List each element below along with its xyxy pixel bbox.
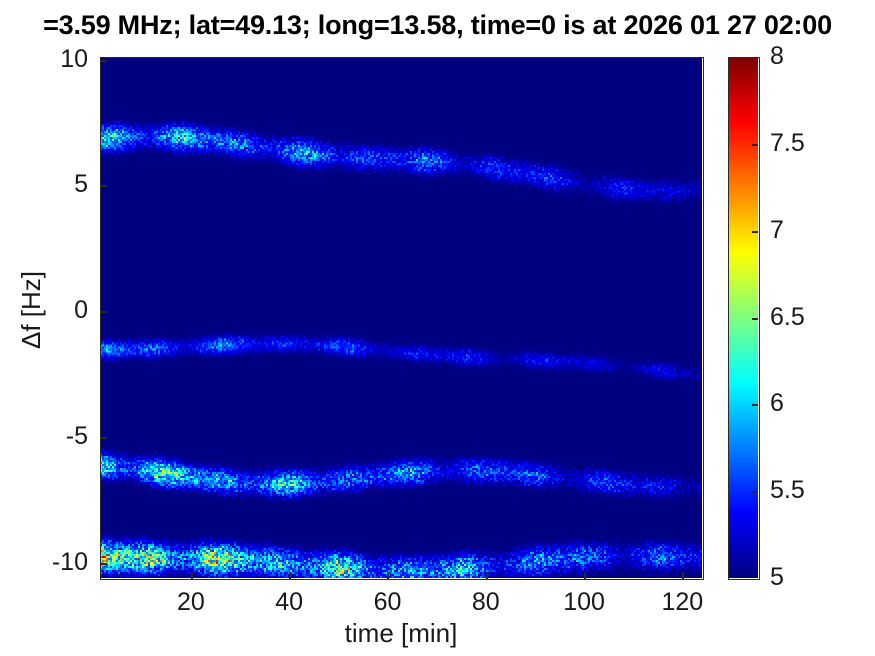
y-tick-label: 5 — [0, 172, 88, 197]
x-tick-label: 20 — [141, 590, 241, 615]
y-tick-mark — [100, 311, 107, 313]
colorbar-tick-label: 7 — [770, 218, 784, 243]
colorbar-tick-mark — [752, 491, 758, 493]
figure-canvas: =3.59 MHz; lat=49.13; long=13.58, time=0… — [0, 0, 875, 656]
x-tick-label: 80 — [436, 590, 536, 615]
spectrogram-plot-area[interactable] — [100, 57, 702, 578]
spectrogram-image — [100, 57, 702, 578]
colorbar-tick-mark — [752, 404, 758, 406]
colorbar-tick-mark — [752, 318, 758, 320]
figure-title: =3.59 MHz; lat=49.13; long=13.58, time=0… — [0, 8, 875, 42]
x-axis-label: time [min] — [100, 620, 702, 646]
y-tick-label: -5 — [0, 424, 88, 449]
colorbar-tick-label: 8 — [770, 44, 784, 69]
colorbar-tick-mark — [752, 231, 758, 233]
colorbar-tick-label: 5 — [770, 565, 784, 590]
colorbar-tick-label: 7.5 — [770, 131, 805, 156]
colorbar-tick-label: 6 — [770, 391, 784, 416]
colorbar-tick-mark — [752, 144, 758, 146]
x-tick-label: 120 — [632, 590, 732, 615]
y-tick-label: 10 — [0, 47, 88, 72]
x-tick-label: 60 — [337, 590, 437, 615]
colorbar-tick-label: 5.5 — [770, 478, 805, 503]
x-tick-label: 40 — [239, 590, 339, 615]
y-tick-mark — [100, 563, 107, 565]
y-tick-label: 0 — [0, 298, 88, 323]
x-tick-mark — [486, 572, 488, 579]
x-tick-mark — [289, 572, 291, 579]
y-tick-mark — [100, 185, 107, 187]
y-tick-mark — [100, 60, 107, 62]
x-tick-mark — [387, 572, 389, 579]
y-tick-mark — [100, 437, 107, 439]
x-tick-mark — [584, 572, 586, 579]
y-tick-label: -10 — [0, 550, 88, 575]
colorbar-tick-label: 6.5 — [770, 305, 805, 330]
x-tick-mark — [682, 572, 684, 579]
x-tick-mark — [191, 572, 193, 579]
x-tick-label: 100 — [534, 590, 634, 615]
